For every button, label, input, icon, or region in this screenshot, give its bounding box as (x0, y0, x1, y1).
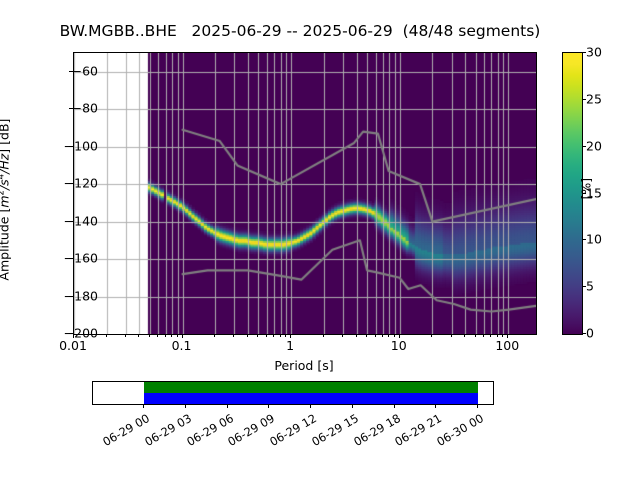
x-minor-tick-mark (138, 334, 139, 337)
x-minor-tick-mark (233, 334, 234, 337)
timeline-band-psd-segments (144, 393, 478, 404)
x-axis-label: Period [s] (73, 358, 535, 373)
x-minor-tick-mark (157, 334, 158, 337)
x-minor-tick-mark (214, 334, 215, 337)
x-minor-tick-mark (451, 334, 452, 337)
x-minor-tick-mark (366, 334, 367, 337)
x-minor-tick-mark (247, 334, 248, 337)
timeline-tick-mark (185, 404, 186, 408)
x-minor-tick-mark (149, 334, 150, 337)
timeline-tick-mark (477, 404, 478, 408)
timeline-tick-mark (227, 404, 228, 408)
timeline-band-available-data (144, 382, 478, 393)
x-minor-tick-mark (177, 334, 178, 337)
x-minor-tick-mark (171, 334, 172, 337)
timeline-tick-mark (143, 404, 144, 408)
x-tick-mark (507, 334, 508, 338)
x-tick-mark (399, 334, 400, 338)
y-tick-label: −60 (38, 63, 98, 78)
x-tick-mark (182, 334, 183, 338)
x-minor-tick-mark (125, 334, 126, 337)
colorbar-tick-label: 10 (586, 232, 602, 247)
colorbar-tick-label: 20 (586, 138, 602, 153)
colorbar-label: [%] (579, 178, 594, 200)
colorbar-tick-label: 0 (586, 326, 594, 341)
timeline-plot-area[interactable] (92, 381, 494, 405)
x-minor-tick-mark (483, 334, 484, 337)
y-tick-label: −180 (38, 288, 98, 303)
timeline-tick-mark (310, 404, 311, 408)
colorbar-tick-label: 30 (586, 45, 602, 60)
x-tick-label: 0.1 (142, 338, 222, 353)
y-axis-label: Amplitude [m2/s4/Hz] [dB] (0, 50, 12, 350)
x-minor-tick-mark (106, 334, 107, 337)
x-minor-tick-mark (266, 334, 267, 337)
x-tick-label: 10 (359, 338, 439, 353)
x-minor-tick-mark (497, 334, 498, 337)
y-tick-label: −160 (38, 251, 98, 266)
x-minor-tick-mark (394, 334, 395, 337)
timeline-tick-mark (268, 404, 269, 408)
x-minor-tick-mark (356, 334, 357, 337)
x-minor-tick-mark (323, 334, 324, 337)
x-tick-mark (290, 334, 291, 338)
x-minor-tick-mark (165, 334, 166, 337)
x-minor-tick-mark (382, 334, 383, 337)
y-tick-label: −80 (38, 101, 98, 116)
ppsd-figure: BW.MGBB..BHE 2025-06-29 -- 2025-06-29 (4… (0, 0, 640, 480)
timeline-tick-mark (435, 404, 436, 408)
x-tick-label: 0.01 (33, 338, 113, 353)
ppsd-plot-area[interactable] (73, 52, 537, 335)
x-minor-tick-mark (280, 334, 281, 337)
x-minor-tick-mark (285, 334, 286, 337)
y-tick-label: −120 (38, 176, 98, 191)
x-tick-label: 100 (467, 338, 547, 353)
timeline-tick-mark (352, 404, 353, 408)
x-minor-tick-mark (502, 334, 503, 337)
x-minor-tick-mark (431, 334, 432, 337)
x-minor-tick-mark (464, 334, 465, 337)
x-minor-tick-mark (257, 334, 258, 337)
page-title: BW.MGBB..BHE 2025-06-29 -- 2025-06-29 (4… (0, 22, 600, 40)
x-tick-label: 1 (250, 338, 330, 353)
ppsd-heatmap-canvas (74, 53, 536, 334)
x-minor-tick-mark (342, 334, 343, 337)
y-tick-mark (69, 258, 73, 259)
x-minor-tick-mark (388, 334, 389, 337)
x-minor-tick-mark (375, 334, 376, 337)
y-tick-mark (69, 146, 73, 147)
x-minor-tick-mark (273, 334, 274, 337)
y-tick-mark (69, 296, 73, 297)
x-tick-mark (73, 334, 74, 338)
colorbar-tick-label: 25 (586, 91, 602, 106)
timeline-tick-mark (394, 404, 395, 408)
y-tick-mark (69, 183, 73, 184)
colorbar-tick-label: 5 (586, 279, 594, 294)
y-tick-label: −100 (38, 138, 98, 153)
y-tick-label: −140 (38, 213, 98, 228)
y-tick-mark (69, 71, 73, 72)
x-minor-tick-mark (475, 334, 476, 337)
x-minor-tick-mark (490, 334, 491, 337)
y-tick-mark (69, 108, 73, 109)
y-tick-mark (69, 221, 73, 222)
